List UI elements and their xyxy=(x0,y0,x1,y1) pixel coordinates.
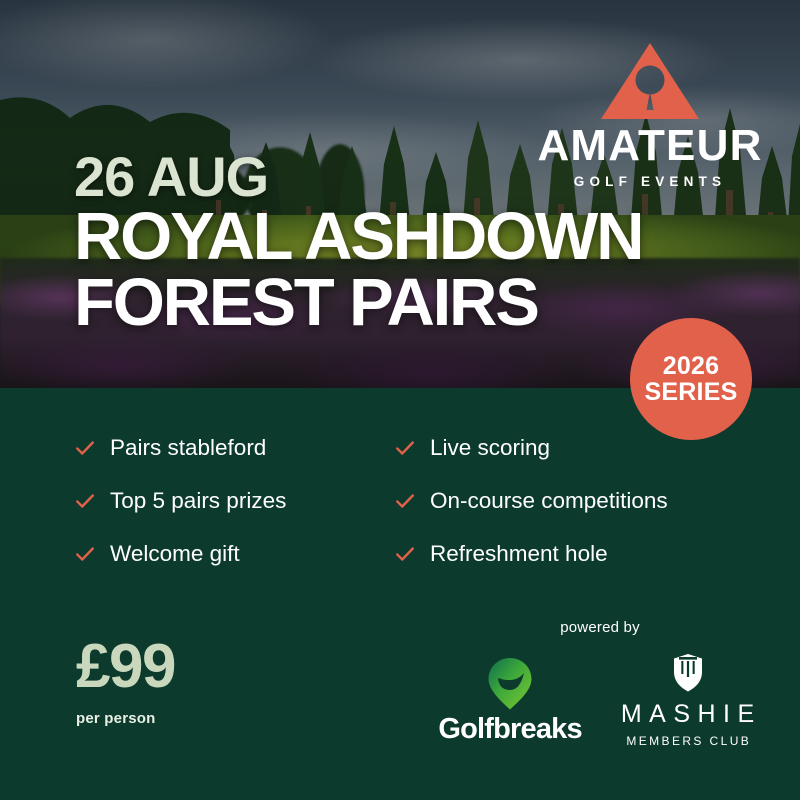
check-icon xyxy=(74,437,96,459)
check-icon xyxy=(74,543,96,565)
mashie-wordmark: MASHIE xyxy=(614,702,762,727)
series-badge-label: SERIES xyxy=(645,379,738,405)
mashie-members-club-logo[interactable]: MASHIE MEMBERS CLUB xyxy=(614,653,762,747)
series-badge: 2026 SERIES xyxy=(630,318,752,440)
feature-item: Refreshment hole xyxy=(394,542,734,567)
series-badge-year: 2026 xyxy=(663,353,719,379)
mashie-subtitle: MEMBERS CLUB xyxy=(624,735,751,747)
details-panel: Pairs stableford Live scoring Top 5 pair… xyxy=(0,388,800,800)
feature-label: Live scoring xyxy=(430,436,550,461)
check-icon xyxy=(74,490,96,512)
event-title-line-1: ROYAL ASHDOWN xyxy=(74,205,642,269)
golfbreaks-wordmark: Golfbreaks xyxy=(438,715,582,744)
event-title-line-2: FOREST PAIRS xyxy=(74,271,642,335)
check-icon xyxy=(394,543,416,565)
feature-label: Pairs stableford xyxy=(110,436,266,461)
event-date: 26 AUG xyxy=(74,148,642,205)
feature-label: Welcome gift xyxy=(110,542,240,567)
price-amount: £99 xyxy=(76,636,175,698)
partner-logos-row: Golfbreaks xyxy=(440,653,760,747)
feature-item: Live scoring xyxy=(394,436,734,461)
check-icon xyxy=(394,490,416,512)
feature-list: Pairs stableford Live scoring Top 5 pair… xyxy=(74,436,734,566)
feature-label: On-course competitions xyxy=(430,489,668,514)
feature-label: Top 5 pairs prizes xyxy=(110,489,286,514)
powered-by-label: powered by xyxy=(440,620,760,635)
feature-item: Pairs stableford xyxy=(74,436,394,461)
feature-item: Top 5 pairs prizes xyxy=(74,489,394,514)
golfbreaks-logo[interactable]: Golfbreaks xyxy=(438,657,582,744)
price-note: per person xyxy=(76,711,175,726)
event-poster: AMATEUR GOLF EVENTS 26 AUG ROYAL ASHDOWN… xyxy=(0,0,800,800)
golfbreaks-pin-icon xyxy=(487,657,533,711)
check-icon xyxy=(394,437,416,459)
headline-block: 26 AUG ROYAL ASHDOWN FOREST PAIRS xyxy=(74,148,642,336)
amateur-triangle-logo-icon xyxy=(599,40,701,122)
feature-item: Welcome gift xyxy=(74,542,394,567)
feature-item: On-course competitions xyxy=(394,489,734,514)
price-block: £99 per person xyxy=(76,636,175,726)
mashie-shield-icon xyxy=(672,653,704,693)
feature-label: Refreshment hole xyxy=(430,542,608,567)
partners-block: powered by xyxy=(440,620,760,747)
